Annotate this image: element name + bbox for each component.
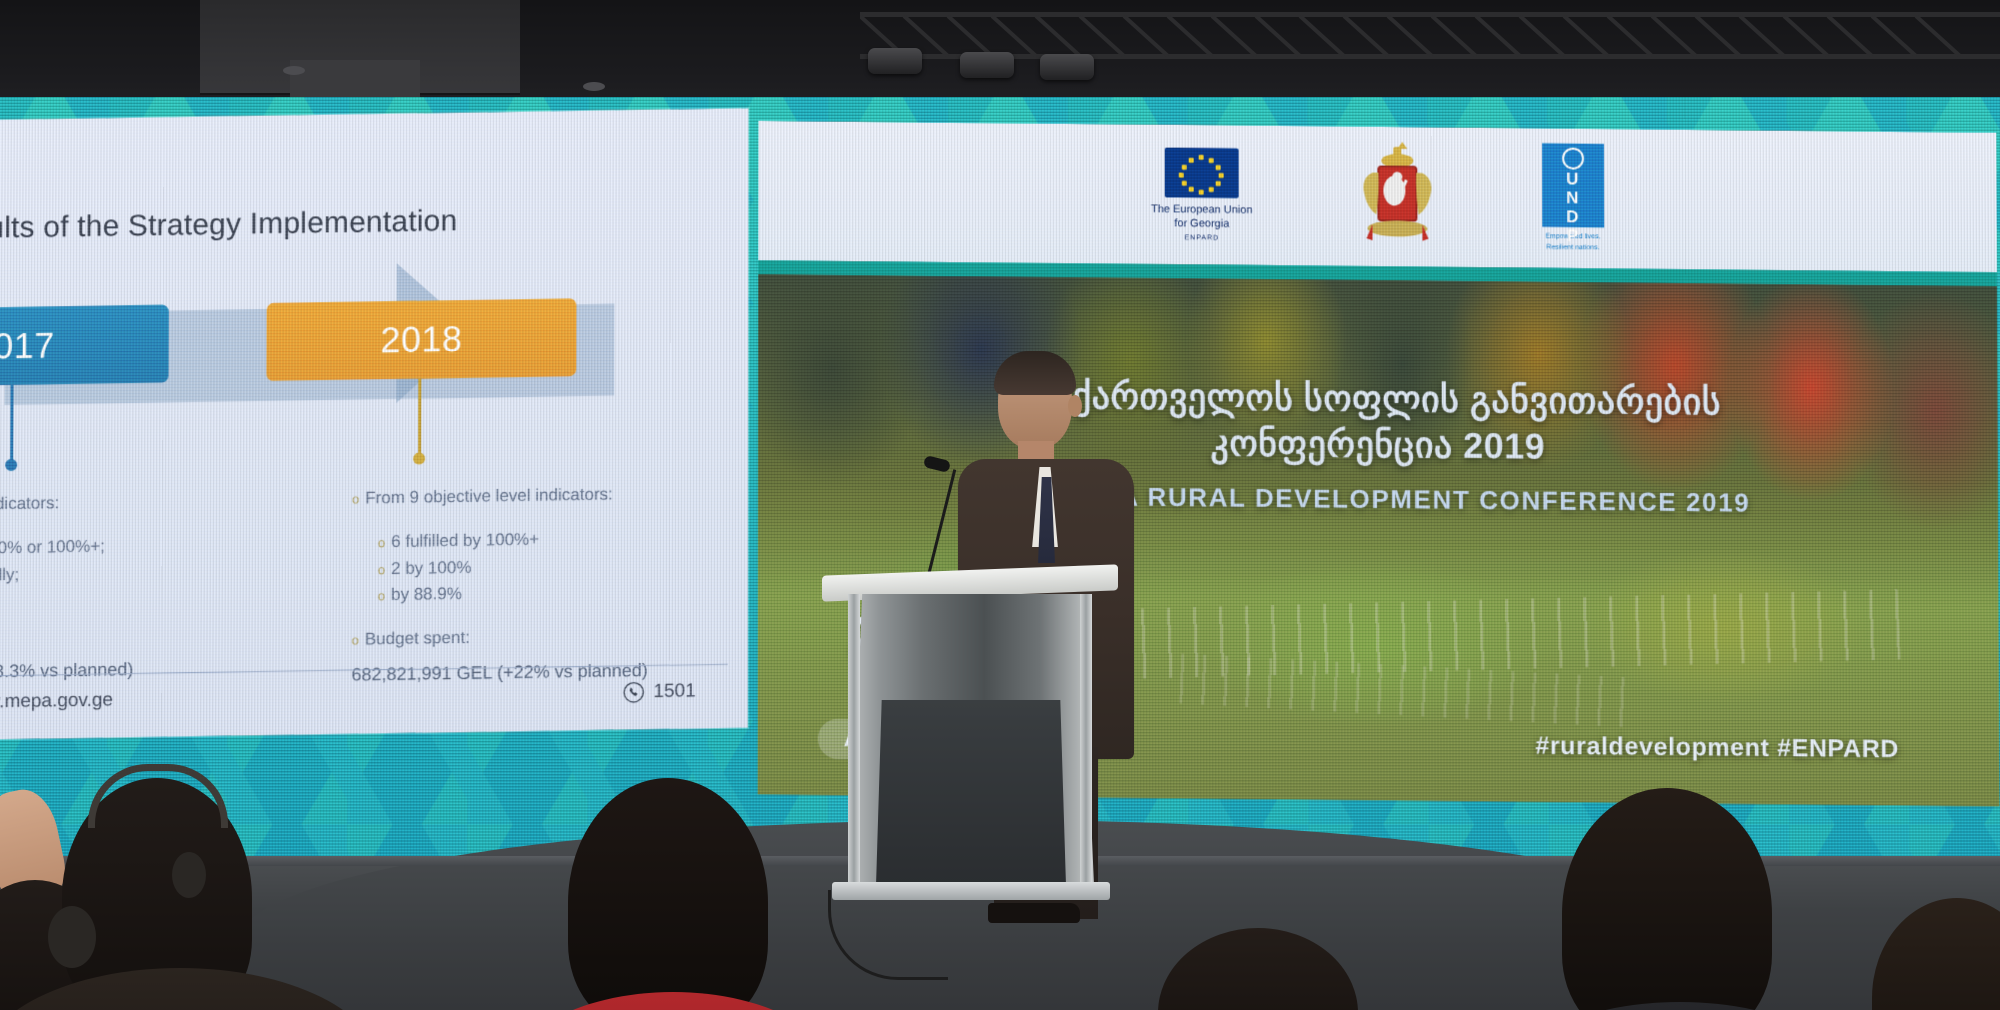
phone-icon <box>622 681 644 703</box>
slide-columns: level indicators: d by 100% or 100%+; d … <box>0 479 748 696</box>
audience-shoulders <box>498 992 848 1010</box>
bullet-marker-icon: o <box>378 535 385 550</box>
smoke-detector-icon <box>283 66 305 75</box>
stage-spotlight <box>960 52 1014 78</box>
headphone-earcup-icon <box>172 852 206 898</box>
timeline-tick-2018 <box>418 379 421 457</box>
bullet-marker-icon: o <box>352 492 359 507</box>
bullet-marker-icon: o <box>378 562 385 577</box>
eu-logo-caption: The European Union for Georgia <box>1151 204 1252 232</box>
undp-globe-icon <box>1562 147 1584 169</box>
headphones-icon <box>88 764 228 828</box>
stage-spotlight <box>1040 54 1094 80</box>
timeline-dot-2017 <box>5 459 17 471</box>
conference-title-block: საქართველოს სოფლის განვითარების კონფერენ… <box>758 370 1998 521</box>
timeline-chip-2017: 2017 <box>0 305 169 388</box>
hotline-number: 1501 <box>653 680 695 703</box>
timeline-dot-2018 <box>413 452 425 464</box>
speaker-ear <box>1068 395 1082 417</box>
left-column: level indicators: d by 100% or 100%+; d … <box>0 486 328 696</box>
headphone-earcup-icon <box>48 906 96 968</box>
slide-logo-header: The European Union for Georgia ENPARD <box>758 121 1997 272</box>
smoke-detector-icon <box>583 82 605 91</box>
undp-mark-icon: UNDP <box>1542 143 1604 227</box>
audience-head <box>1562 788 1772 1010</box>
budget-figure: 682,821,991 GEL (+22% vs planned) <box>351 660 647 685</box>
bullet-marker-icon: o <box>378 588 385 603</box>
stage-spotlight <box>868 48 922 74</box>
timeline-chip-2018: 2018 <box>266 298 576 381</box>
hotline-group: 1501 <box>622 680 695 703</box>
bullet-marker-icon: o <box>352 633 359 648</box>
enpard-label: ENPARD <box>1151 234 1252 242</box>
eu-flag-icon <box>1165 148 1239 199</box>
timeline-graphic: 2017 2018 <box>0 282 708 444</box>
speaker-hair <box>994 351 1076 395</box>
georgia-coat-of-arms <box>1342 138 1452 256</box>
left-presentation-slide: ults of the Strategy Implementation 2017… <box>0 108 748 741</box>
right-column: oFrom 9 objective level indicators: o6 f… <box>327 480 714 690</box>
audience-shoulders <box>1490 1002 1870 1010</box>
audience-foreground <box>0 730 2000 1010</box>
audience-head <box>568 778 768 1010</box>
timeline-year-label: 2017 <box>0 324 55 367</box>
undp-logo: UNDP Empowered lives. Resilient nations. <box>1542 143 1604 253</box>
screenshot-root: ults of the Strategy Implementation 2017… <box>0 0 2000 1010</box>
eu-logo: The European Union for Georgia ENPARD <box>1151 148 1252 242</box>
lighting-truss <box>860 8 2000 74</box>
website-label: www.mepa.gov.ge <box>0 690 113 714</box>
budget-figure: EL (+38.3% vs planned) <box>0 660 133 683</box>
undp-letters: UNDP <box>1542 169 1604 245</box>
slide-title: ults of the Strategy Implementation <box>0 200 708 246</box>
timeline-tick-2017 <box>10 385 13 463</box>
audience-head <box>1872 898 2000 1010</box>
timeline-year-label: 2018 <box>380 318 462 361</box>
conference-title-georgian: საქართველოს სოფლის განვითარების კონფერენ… <box>758 370 1998 474</box>
audience-head <box>1158 928 1358 1010</box>
